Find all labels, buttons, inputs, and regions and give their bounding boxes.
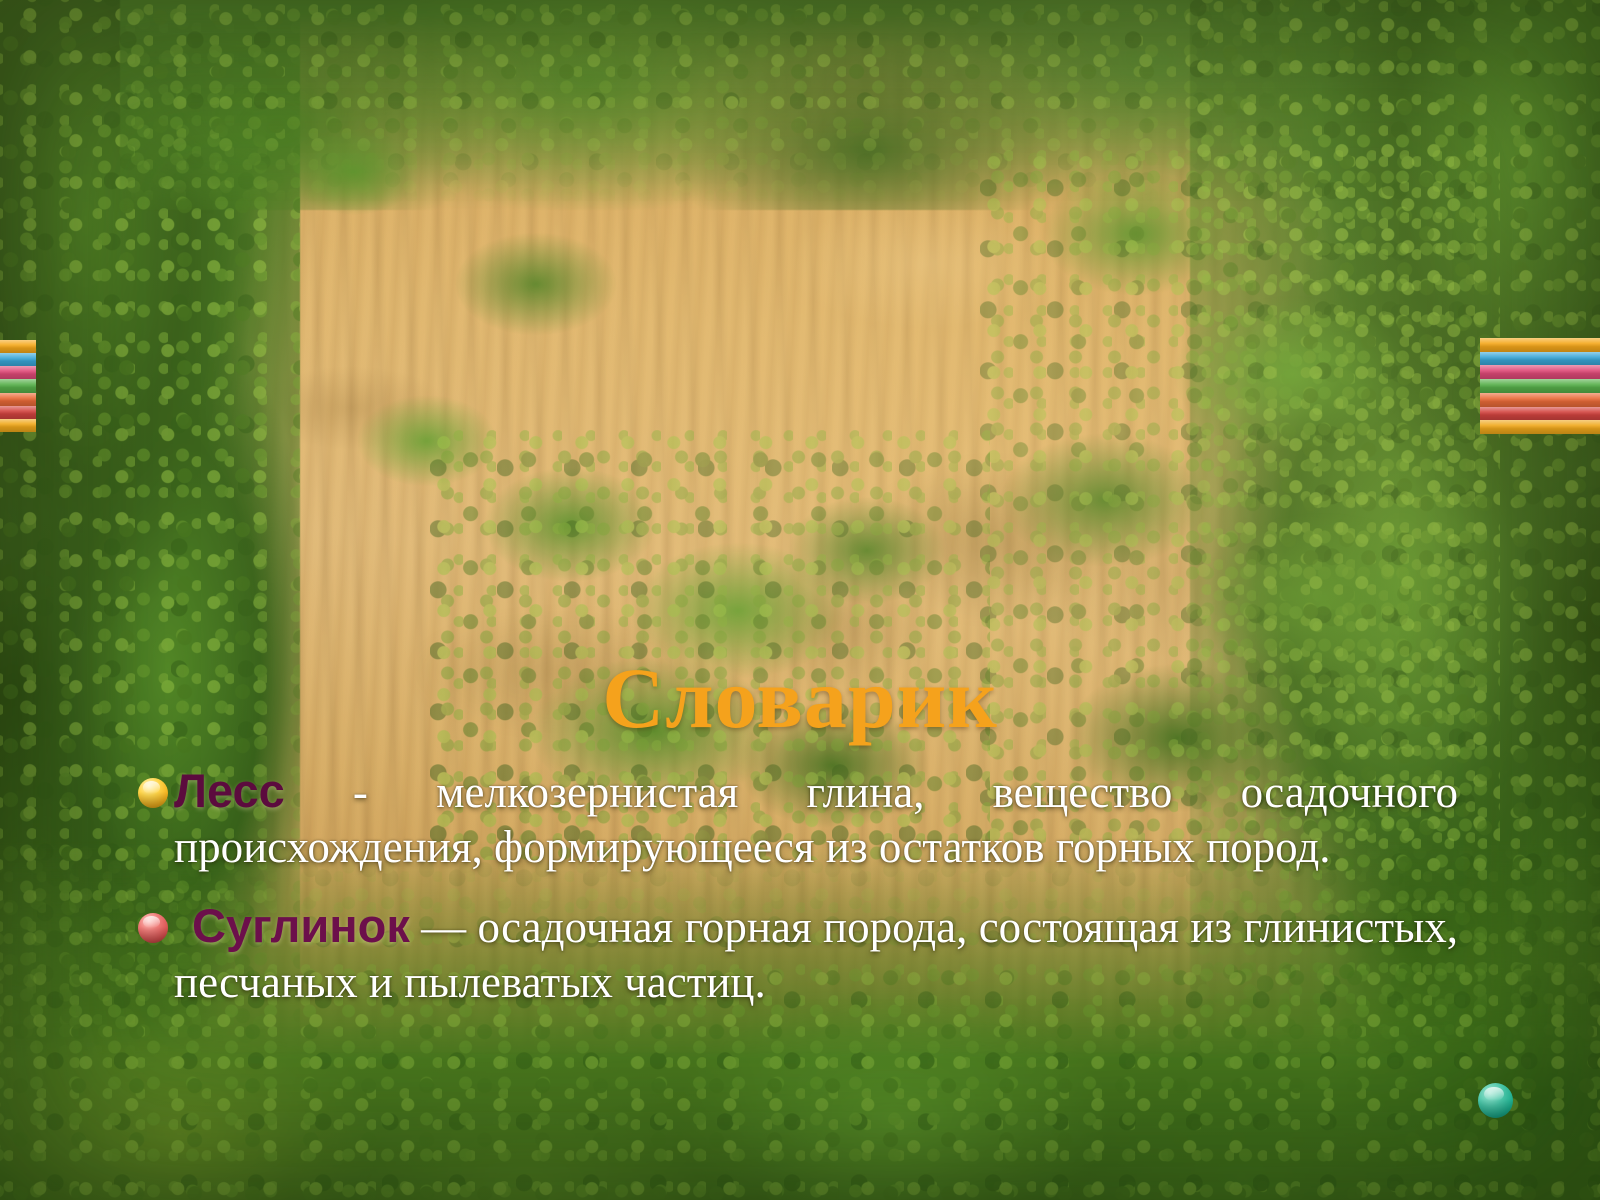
glossary-separator-loess: - [285,767,436,817]
glossary-list: Лесс - мелкозернистая глина, вещество ос… [138,762,1458,1032]
glossary-term-loam: Суглинок [192,899,410,952]
list-item: Суглинок — осадочная горная порода, сост… [138,897,1458,1010]
presentation-slide: Словарик Лесс - мелкозернистая глина, ве… [0,0,1600,1200]
glossary-term-loess: Лесс [174,764,285,817]
glossary-entry-loess: Лесс - мелкозернистая глина, вещество ос… [174,762,1458,875]
slide-content: Словарик Лесс - мелкозернистая глина, ве… [0,0,1600,1200]
gold-sphere-bullet-icon [138,778,168,808]
glossary-entry-loam: Суглинок — осадочная горная порода, сост… [174,897,1458,1010]
list-item: Лесс - мелкозернистая глина, вещество ос… [138,762,1458,875]
glossary-separator-loam: — [410,902,478,952]
page-title: Словарик [0,655,1600,741]
red-sphere-bullet-icon [138,913,168,943]
